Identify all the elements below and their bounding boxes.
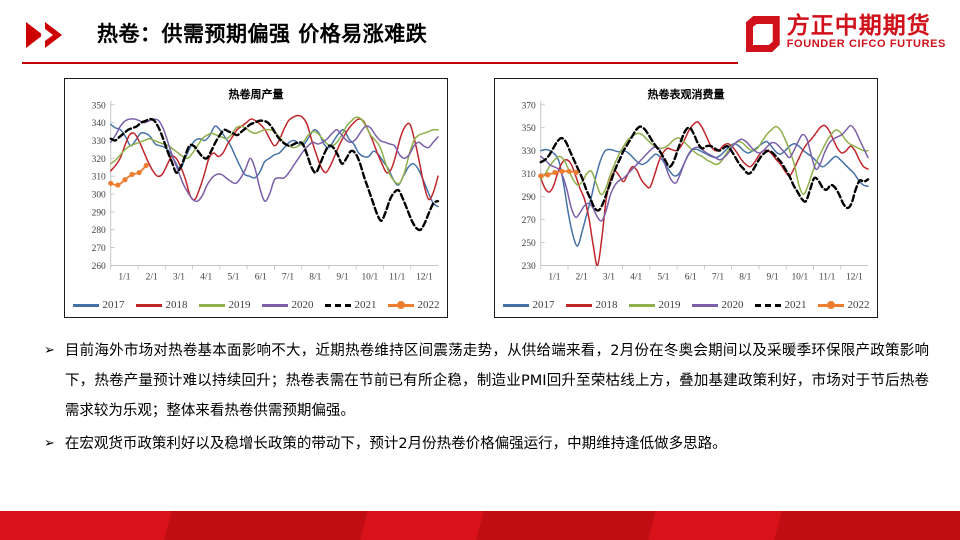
legend-swatch-icon — [503, 304, 529, 307]
legend-label: 2019 — [229, 299, 251, 311]
legend-item-2017[interactable]: 2017 — [503, 299, 555, 311]
legend-swatch-icon — [136, 304, 162, 307]
legend-swatch-icon — [388, 304, 414, 307]
legend-item-2021[interactable]: 2021 — [325, 299, 377, 311]
footer-stripe — [774, 511, 960, 540]
series-marker-2022 — [122, 177, 127, 182]
y-axis-tick-label: 310 — [92, 173, 106, 183]
y-axis-tick-label: 290 — [92, 208, 106, 218]
y-axis-tick-label: 310 — [522, 170, 536, 180]
bullet-marker-icon: ➢ — [44, 429, 55, 459]
x-axis-tick-label: 2/1 — [576, 272, 588, 282]
series-line-2019 — [541, 127, 868, 195]
legend-swatch-icon — [73, 304, 99, 307]
legend-item-2020[interactable]: 2020 — [262, 299, 314, 311]
x-axis-tick-label: 11/1 — [389, 272, 406, 282]
legend-swatch-icon — [692, 304, 718, 307]
x-axis-tick-label: 6/1 — [255, 272, 267, 282]
legend-label: 2021 — [785, 299, 807, 311]
chart-legend: 201720182019202020212022 — [65, 299, 447, 311]
legend-label: 2017 — [103, 299, 125, 311]
x-axis-tick-label: 5/1 — [657, 272, 669, 282]
x-axis-tick-label: 2/1 — [146, 272, 158, 282]
series-line-2018 — [541, 122, 868, 266]
legend-item-2022[interactable]: 2022 — [818, 299, 870, 311]
footer-stripe — [476, 511, 655, 540]
logo-chinese-name: 方正中期期货 — [787, 14, 946, 38]
x-axis-tick-label: 9/1 — [337, 272, 349, 282]
series-marker-2022 — [115, 183, 120, 188]
series-marker-2022 — [108, 181, 113, 186]
chart-apparent-consumption: 热卷表观消费量 2302502702903103303503701/12/13/… — [494, 78, 878, 318]
series-line-2021 — [111, 119, 438, 230]
y-axis-tick-label: 370 — [522, 101, 536, 111]
series-marker-2022 — [559, 169, 564, 174]
y-axis-tick-label: 270 — [522, 216, 536, 226]
legend-label: 2021 — [355, 299, 377, 311]
series-marker-2022 — [567, 169, 572, 174]
legend-swatch-icon — [566, 304, 592, 307]
legend-label: 2020 — [292, 299, 314, 311]
legend-swatch-icon — [199, 304, 225, 307]
y-axis-tick-label: 320 — [92, 155, 106, 165]
x-axis-tick-label: 3/1 — [173, 272, 185, 282]
founder-cube-logo-icon — [746, 16, 780, 52]
legend-label: 2020 — [722, 299, 744, 311]
x-axis-tick-label: 1/1 — [118, 272, 130, 282]
y-axis-tick-label: 270 — [92, 244, 106, 254]
series-marker-2022 — [552, 170, 557, 175]
logo-english-name: FOUNDER CIFCO FUTURES — [787, 38, 946, 52]
series-line-2020 — [541, 125, 868, 221]
legend-item-2020[interactable]: 2020 — [692, 299, 744, 311]
double-chevron-right-icon — [26, 22, 62, 48]
series-marker-2022 — [545, 172, 550, 177]
x-axis-tick-label: 8/1 — [309, 272, 321, 282]
legend-swatch-icon — [325, 304, 351, 307]
legend-item-2018[interactable]: 2018 — [136, 299, 188, 311]
y-axis-tick-label: 350 — [92, 101, 106, 111]
y-axis-tick-label: 250 — [522, 239, 536, 249]
x-axis-tick-label: 9/1 — [767, 272, 779, 282]
y-axis-tick-label: 290 — [522, 193, 536, 203]
bullet-paragraph: 目前海外市场对热卷基本面影响不大，近期热卷维持区间震荡走势，从供给端来看，2月份… — [65, 336, 929, 426]
chart-legend: 201720182019202020212022 — [495, 299, 877, 311]
legend-item-2019[interactable]: 2019 — [629, 299, 681, 311]
slide-header: 热卷：供需预期偏强 价格易涨难跌 方正中期期货 FOUNDER CIFCO FU… — [0, 0, 960, 70]
bullet-item: ➢ 在宏观货币政策利好以及稳增长政策的带动下，预计2月份热卷价格偏强运行，中期维… — [44, 429, 929, 459]
legend-label: 2018 — [166, 299, 188, 311]
series-marker-2022 — [129, 172, 134, 177]
page-title: 热卷：供需预期偏强 价格易涨难跌 — [97, 18, 427, 48]
series-marker-2022 — [538, 173, 543, 178]
legend-swatch-icon — [818, 304, 844, 307]
y-axis-tick-label: 330 — [522, 147, 536, 157]
legend-item-2019[interactable]: 2019 — [199, 299, 251, 311]
chart-weekly-production: 热卷周产量 2602702802903003103203303403501/12… — [64, 78, 448, 318]
series-line-2017 — [111, 124, 438, 206]
legend-item-2017[interactable]: 2017 — [73, 299, 125, 311]
x-axis-tick-label: 7/1 — [712, 272, 724, 282]
x-axis-tick-label: 8/1 — [739, 272, 751, 282]
analysis-text: ➢ 目前海外市场对热卷基本面影响不大，近期热卷维持区间震荡走势，从供给端来看，2… — [44, 336, 929, 462]
series-marker-2022 — [574, 170, 579, 175]
legend-swatch-icon — [755, 304, 781, 307]
y-axis-tick-label: 300 — [92, 191, 106, 201]
legend-swatch-icon — [262, 304, 288, 307]
legend-swatch-icon — [629, 304, 655, 307]
x-axis-tick-label: 10/1 — [361, 272, 378, 282]
series-marker-2022 — [144, 163, 149, 168]
legend-item-2022[interactable]: 2022 — [388, 299, 440, 311]
x-axis-tick-label: 12/1 — [846, 272, 863, 282]
legend-item-2021[interactable]: 2021 — [755, 299, 807, 311]
footer-stripe — [164, 511, 367, 540]
series-line-2022 — [111, 165, 146, 185]
legend-label: 2022 — [848, 299, 870, 311]
x-axis-tick-label: 1/1 — [548, 272, 560, 282]
legend-label: 2022 — [418, 299, 440, 311]
legend-item-2018[interactable]: 2018 — [566, 299, 618, 311]
x-axis-tick-label: 6/1 — [685, 272, 697, 282]
x-axis-tick-label: 5/1 — [227, 272, 239, 282]
bullet-marker-icon: ➢ — [44, 336, 55, 366]
x-axis-tick-label: 7/1 — [282, 272, 294, 282]
legend-marker-icon — [827, 301, 835, 309]
x-axis-tick-label: 11/1 — [819, 272, 836, 282]
x-axis-tick-label: 12/1 — [416, 272, 433, 282]
legend-label: 2018 — [596, 299, 618, 311]
header-divider — [22, 62, 738, 64]
y-axis-tick-label: 280 — [92, 226, 106, 236]
y-axis-tick-label: 340 — [92, 119, 106, 129]
legend-label: 2017 — [533, 299, 555, 311]
x-axis-tick-label: 3/1 — [603, 272, 615, 282]
series-line-2021 — [541, 127, 868, 211]
legend-marker-icon — [397, 301, 405, 309]
apparent-consumption-plot: 2302502702903103303503701/12/13/14/15/16… — [495, 79, 877, 317]
y-axis-tick-label: 230 — [522, 262, 536, 272]
x-axis-tick-label: 4/1 — [630, 272, 642, 282]
x-axis-tick-label: 4/1 — [200, 272, 212, 282]
y-axis-tick-label: 350 — [522, 124, 536, 134]
weekly-production-plot: 2602702802903003103203303403501/12/13/14… — [65, 79, 447, 317]
y-axis-tick-label: 260 — [92, 262, 106, 272]
x-axis-tick-label: 10/1 — [791, 272, 808, 282]
bullet-item: ➢ 目前海外市场对热卷基本面影响不大，近期热卷维持区间震荡走势，从供给端来看，2… — [44, 336, 929, 426]
legend-label: 2019 — [659, 299, 681, 311]
series-marker-2022 — [137, 170, 142, 175]
bullet-paragraph: 在宏观货币政策利好以及稳增长政策的带动下，预计2月份热卷价格偏强运行，中期维持逢… — [65, 429, 929, 459]
footer-banner — [0, 511, 960, 540]
series-line-2019 — [111, 117, 438, 184]
company-logo: 方正中期期货 FOUNDER CIFCO FUTURES — [746, 14, 946, 52]
y-axis-tick-label: 330 — [92, 137, 106, 147]
